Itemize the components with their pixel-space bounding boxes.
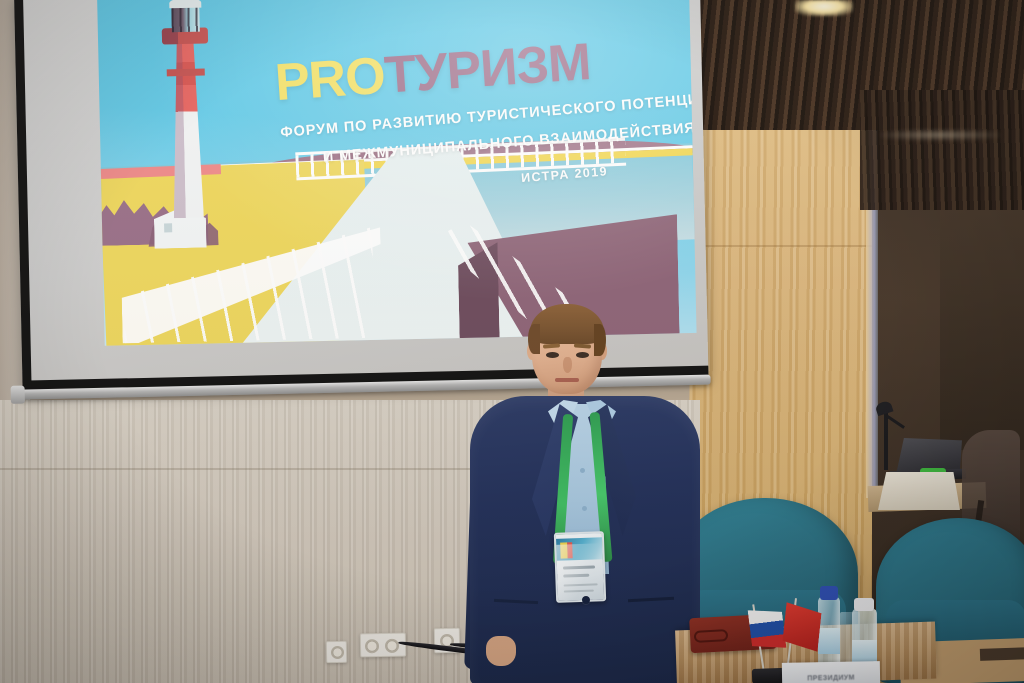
slide-lighthouse-belt <box>167 69 205 77</box>
presenter-mouth <box>555 378 579 382</box>
slide-logo-turizm: ТУРИЗМ <box>383 33 592 105</box>
slide-keeper-house-window <box>164 223 172 232</box>
slide-lighthouse-lantern-bars <box>171 6 200 33</box>
folder-strap <box>694 629 729 643</box>
suit-button <box>582 596 590 604</box>
ceiling-light-icon <box>795 0 853 16</box>
ceiling-light-glow <box>880 130 1000 140</box>
presenter-hair <box>530 304 604 344</box>
name-placard-text: ПРЕЗИДИУМ <box>782 674 880 683</box>
socket-hole <box>365 639 379 653</box>
water-bottle-1-label <box>818 628 840 654</box>
presenter-badge <box>554 531 606 603</box>
russia-flag-icon <box>748 606 787 652</box>
presenter-hair-side-left <box>528 324 540 354</box>
shirt-button <box>582 506 587 511</box>
name-placard: ПРЕЗИДИУМ <box>782 661 880 683</box>
socket-hole <box>385 639 399 653</box>
screen-roller-cap <box>11 386 25 404</box>
background-box <box>878 472 960 510</box>
photo-scene: PROТУРИЗМ ФОРУМ ПО РАЗВИТИЮ ТУРИСТИЧЕСКО… <box>0 0 1024 683</box>
presenter-eye-left <box>546 352 559 358</box>
ceiling-slats-far <box>860 90 1024 210</box>
presenter-nose <box>563 357 572 373</box>
presenter <box>470 300 700 683</box>
water-bottle-1-cap <box>820 586 838 600</box>
shirt-button <box>580 468 585 473</box>
wall-socket-2[interactable] <box>360 633 406 658</box>
badge-glare <box>554 543 606 603</box>
wall-panel-seam <box>690 245 880 247</box>
presenter-hair-side-right <box>594 324 606 356</box>
wall-socket-1[interactable] <box>326 641 347 663</box>
presentation-slide: PROТУРИЗМ ФОРУМ ПО РАЗВИТИЮ ТУРИСТИЧЕСКО… <box>97 0 696 346</box>
side-table-item <box>980 647 1024 661</box>
slide-logo: PROТУРИЗМ <box>273 32 592 113</box>
presenter-eye-right <box>576 352 589 358</box>
socket-hole <box>331 646 344 659</box>
slide-logo-pro: PRO <box>273 47 386 112</box>
water-bottle-2-cap <box>854 598 874 611</box>
presenter-hand-left <box>486 636 516 666</box>
slide-lighthouse-dome <box>169 0 201 8</box>
